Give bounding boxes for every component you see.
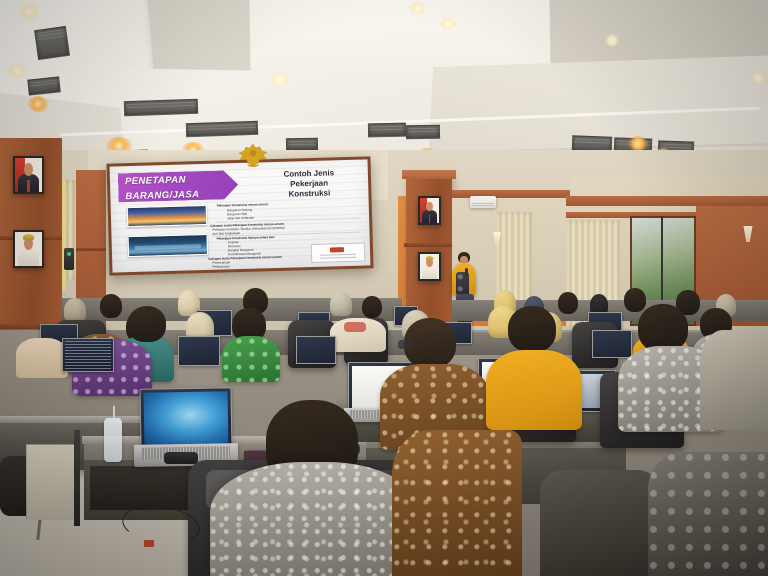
slide-footer-logo bbox=[311, 243, 366, 264]
air-vent-icon bbox=[34, 26, 70, 60]
portrait-frame-president-left bbox=[13, 156, 44, 194]
pillar-divider bbox=[404, 243, 454, 247]
attendee-scarf-detail bbox=[344, 322, 366, 332]
attendee-body-peach-hijab bbox=[16, 338, 68, 378]
slide-photo-bridge bbox=[128, 234, 209, 257]
projection-screen: PENETAPAN BARANG/JASA Contoh Jenis Peker… bbox=[110, 159, 371, 272]
foreground-person-body bbox=[210, 462, 420, 576]
ceiling-spotlight bbox=[440, 18, 456, 30]
pillar-cap bbox=[402, 170, 456, 179]
ceiling-spotlight bbox=[604, 34, 620, 47]
ceiling-spotlight bbox=[271, 73, 288, 86]
garuda-pancasila-emblem bbox=[236, 142, 271, 169]
attendee-head-purple-row bbox=[128, 306, 166, 342]
attendee-body-edge-right bbox=[700, 330, 768, 430]
attendee-head-right bbox=[508, 306, 556, 352]
office-chair-foreground-right[interactable] bbox=[540, 470, 660, 576]
microphone-icon bbox=[465, 268, 468, 277]
curtain-light-strip bbox=[62, 180, 66, 290]
attendee-body-green-batik bbox=[222, 336, 280, 382]
ceiling-spotlight bbox=[628, 136, 648, 151]
power-strip[interactable] bbox=[164, 452, 198, 464]
slide-photo-sunset bbox=[127, 205, 208, 227]
foreground-person-right-body bbox=[392, 430, 522, 576]
attendee-head-far-right bbox=[638, 304, 688, 352]
air-vent-icon bbox=[186, 121, 258, 138]
laptop-acer-screen[interactable]: acer bbox=[139, 387, 232, 449]
laptop-screen[interactable] bbox=[296, 336, 336, 364]
attendee-head-hijab bbox=[64, 298, 86, 322]
ceiling-spotlight bbox=[409, 2, 426, 15]
foreground-person-far-right bbox=[648, 452, 768, 576]
wall-trim-horizontal bbox=[566, 196, 768, 206]
portrait-frame-official-pillar bbox=[418, 252, 441, 281]
attendee-body-gold-foreground bbox=[486, 350, 582, 430]
portrait-frame-president-pillar bbox=[418, 196, 441, 225]
desk-leg bbox=[74, 430, 80, 526]
attendee-head bbox=[362, 296, 382, 318]
drink-cup bbox=[104, 420, 122, 462]
seminar-room-photo: PENETAPAN BARANG/JASA Contoh Jenis Peker… bbox=[0, 0, 768, 576]
air-vent-icon bbox=[406, 125, 440, 140]
paper-on-floor bbox=[26, 444, 80, 520]
ceiling-spotlight bbox=[19, 3, 39, 19]
laptop-screen[interactable] bbox=[592, 330, 632, 358]
air-conditioner-unit bbox=[470, 196, 496, 208]
ceiling-spotlight bbox=[28, 96, 48, 112]
wall-panel-divider bbox=[76, 248, 106, 251]
portrait-frame-official-left bbox=[13, 230, 44, 268]
slide-right-heading: Contoh Jenis Pekerjaan Konstruksi bbox=[256, 168, 363, 201]
attendee-head-hijab-grey bbox=[330, 292, 352, 316]
slide-title-banner: PENETAPAN BARANG/JASA bbox=[118, 170, 239, 202]
air-vent-icon bbox=[124, 99, 198, 117]
attendee-head bbox=[100, 294, 122, 318]
card-reader-device[interactable] bbox=[64, 248, 74, 270]
attendee-head bbox=[624, 288, 646, 312]
eyeglasses-icon bbox=[398, 340, 412, 349]
laptop-screen[interactable] bbox=[178, 336, 220, 366]
ceiling-spotlight bbox=[8, 64, 26, 78]
air-vent-icon bbox=[368, 123, 406, 138]
ceiling-spotlight bbox=[750, 72, 766, 84]
air-vent-icon bbox=[27, 76, 60, 95]
laptop-screen-left[interactable] bbox=[62, 338, 114, 372]
attendee-head bbox=[558, 292, 578, 314]
cable-connector bbox=[144, 540, 154, 547]
